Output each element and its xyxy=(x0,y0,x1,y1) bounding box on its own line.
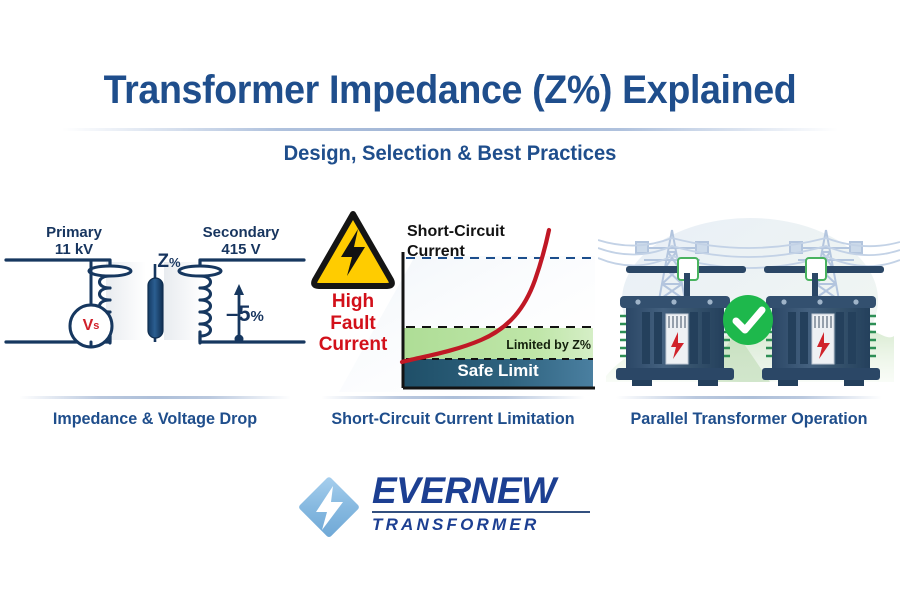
primary-label: Primary 11 kV xyxy=(26,224,122,259)
panel-impedance-voltage-drop: Primary 11 kV Secondary 415 V Z% Vs –5% xyxy=(0,196,310,446)
high-fault-current-label: High Fault Current xyxy=(307,291,399,356)
page-subtitle: Design, Selection & Best Practices xyxy=(18,142,882,166)
transformer-unit-left xyxy=(616,296,734,386)
secondary-title: Secondary xyxy=(203,224,280,241)
transformer-unit-right xyxy=(762,296,880,386)
panel-short-circuit-limitation: Short-Circuit Current High Fault Current… xyxy=(303,196,603,446)
parallel-transformer-illustration xyxy=(598,196,900,396)
page-title: Transformer Impedance (Z%) Explained xyxy=(27,68,873,113)
short-circuit-chart: Short-Circuit Current High Fault Current… xyxy=(303,196,603,396)
secondary-value: 415 V xyxy=(221,241,260,258)
logo-mark-icon xyxy=(296,474,362,540)
panel-divider xyxy=(321,396,585,399)
secondary-bottom-wire xyxy=(200,332,304,342)
panel-divider xyxy=(616,396,882,399)
vs-subscript: s xyxy=(93,320,99,332)
drop-value: –5 xyxy=(226,301,250,326)
title-divider xyxy=(62,128,838,131)
impedance-element xyxy=(148,278,163,338)
infographic-page: Transformer Impedance (Z%) Explained Des… xyxy=(0,0,900,600)
parallel-transformer-svg xyxy=(598,196,900,396)
logo-divider xyxy=(372,511,590,513)
drop-unit: % xyxy=(250,308,263,325)
panel-caption-parallel: Parallel Transformer Operation xyxy=(606,409,893,429)
logo-name: EVERNEW xyxy=(372,472,604,509)
panel-caption-short-circuit: Short-Circuit Current Limitation xyxy=(311,409,596,429)
panel-caption-impedance: Impedance & Voltage Drop xyxy=(8,409,303,429)
impedance-unit: % xyxy=(169,255,181,270)
warning-line-2: Fault xyxy=(330,313,375,334)
warning-triangle-icon xyxy=(314,214,392,286)
voltage-source-label: Vs xyxy=(70,305,112,347)
band-label-limited: Limited by Z% xyxy=(481,338,591,352)
logo-wordmark: EVERNEW TRANSFORMER xyxy=(372,472,604,533)
warning-line-3: Current xyxy=(319,334,388,355)
vs-symbol: V xyxy=(83,317,94,335)
check-circle-icon xyxy=(723,295,773,345)
primary-value: 11 kV xyxy=(55,241,93,258)
header: Transformer Impedance (Z%) Explained Des… xyxy=(0,0,900,185)
band-label-safe: Safe Limit xyxy=(403,361,593,381)
transformer-circuit-diagram: Primary 11 kV Secondary 415 V Z% Vs –5% xyxy=(0,196,310,396)
panel-parallel-transformers: Parallel Transformer Operation xyxy=(598,196,900,446)
voltage-drop-label: –5% xyxy=(226,301,296,327)
warning-line-1: High xyxy=(332,291,374,312)
panel-row: Primary 11 kV Secondary 415 V Z% Vs –5% xyxy=(0,196,900,446)
impedance-label: Z% xyxy=(140,251,198,273)
impedance-symbol: Z xyxy=(157,251,169,272)
brand-logo: EVERNEW TRANSFORMER xyxy=(296,468,604,546)
chart-title: Short-Circuit Current xyxy=(407,222,537,261)
primary-title: Primary xyxy=(46,224,102,241)
logo-subtitle: TRANSFORMER xyxy=(372,516,604,533)
panel-divider xyxy=(19,396,292,399)
chart-title-line1: Short-Circuit xyxy=(407,223,505,240)
diamond-bolt-icon xyxy=(296,474,362,540)
secondary-label: Secondary 415 V xyxy=(186,224,296,259)
chart-title-line2: Current xyxy=(407,243,465,260)
footer: EVERNEW TRANSFORMER xyxy=(0,468,900,546)
